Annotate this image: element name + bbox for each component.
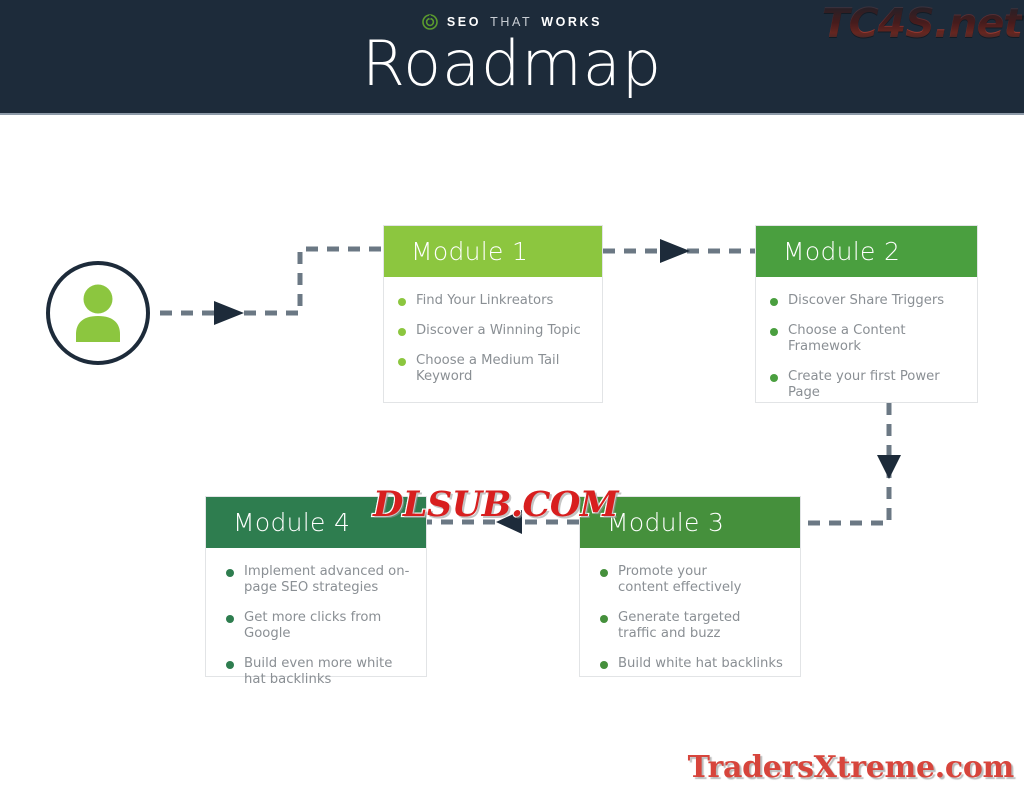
list-item: Discover Share Triggers [770,293,963,309]
module-3-item-3: Build white hat backlinks [618,656,783,672]
list-item: Promote your content effectively [600,564,786,596]
bullet-dot-icon [398,328,406,336]
module-2-body: Discover Share Triggers Choose a Content… [756,277,977,411]
module-2-item-3: Create your first Power Page [788,369,963,401]
module-3-body: Promote your content effectively Generat… [580,548,800,682]
module-3-item-2: Generate targeted traffic and buzz [618,610,764,642]
module-1-item-1: Find Your Linkreators [416,293,553,309]
list-item: Build white hat backlinks [600,656,786,672]
list-item: Choose a Content Framework [770,323,963,355]
bullet-dot-icon [770,374,778,382]
connector-start-to-module-1 [160,249,383,325]
module-1-item-2: Discover a Winning Topic [416,323,581,339]
module-2-header: Module 2 [756,226,977,277]
module-2-item-1: Discover Share Triggers [788,293,944,309]
start-node-avatar[interactable] [46,261,150,365]
bullet-dot-icon [226,615,234,623]
list-item: Implement advanced on-page SEO strategie… [226,564,412,596]
watermark-tradersxtreme: TradersXtreme.com [688,753,1014,783]
module-4-body: Implement advanced on-page SEO strategie… [206,548,426,698]
module-4-item-3: Build even more white hat backlinks [244,656,396,688]
bullet-dot-icon [398,298,406,306]
bullet-dot-icon [770,328,778,336]
connector-layer [0,115,1024,791]
module-card-2[interactable]: Module 2 Discover Share Triggers Choose … [755,225,978,403]
connector-module-2-to-module-3 [801,403,901,523]
list-item: Build even more white hat backlinks [226,656,412,688]
bullet-dot-icon [226,661,234,669]
bullet-dot-icon [226,569,234,577]
bullet-dot-icon [398,358,406,366]
watermark-tc4s: TC4S.net [822,2,1022,45]
module-1-header: Module 1 [384,226,602,277]
bullet-dot-icon [600,569,608,577]
module-2-title: Module 2 [783,237,900,266]
module-3-item-1: Promote your content effectively [618,564,760,596]
list-item: Generate targeted traffic and buzz [600,610,786,642]
list-item: Create your first Power Page [770,369,963,401]
module-3-title: Module 3 [607,508,724,537]
list-item: Choose a Medium Tail Keyword [398,353,588,385]
list-item: Get more clicks from Google [226,610,412,642]
bullet-dot-icon [600,661,608,669]
connector-module-1-to-module-2 [603,239,755,263]
list-item: Find Your Linkreators [398,293,588,309]
module-1-title: Module 1 [411,237,528,266]
module-2-item-2: Choose a Content Framework [788,323,963,355]
module-4-item-1: Implement advanced on-page SEO strategie… [244,564,410,596]
roadmap-canvas: Module 1 Find Your Linkreators Discover … [0,115,1024,791]
bullet-dot-icon [600,615,608,623]
module-1-item-3: Choose a Medium Tail Keyword [416,353,588,385]
module-1-body: Find Your Linkreators Discover a Winning… [384,277,602,395]
module-card-1[interactable]: Module 1 Find Your Linkreators Discover … [383,225,603,403]
list-item: Discover a Winning Topic [398,323,588,339]
person-avatar-icon [70,284,126,342]
bullet-dot-icon [770,298,778,306]
watermark-dlsub: DLSUB.COM [373,487,618,522]
module-4-title: Module 4 [233,508,350,537]
module-4-item-2: Get more clicks from Google [244,610,412,642]
header-band: SEO THAT WORKS Roadmap TC4S.net [0,0,1024,115]
